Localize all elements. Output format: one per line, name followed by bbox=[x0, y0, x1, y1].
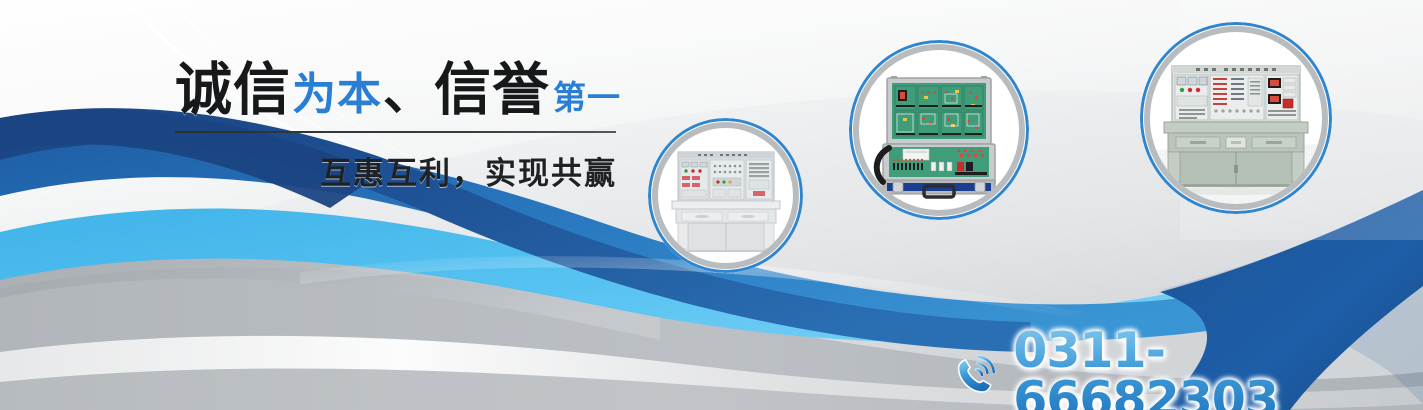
product-image-2 bbox=[859, 50, 1019, 210]
phone-number[interactable]: 0311-66682303 bbox=[1013, 326, 1423, 410]
product-circle-3[interactable] bbox=[1140, 22, 1332, 214]
headline-part-xinyu: 信誉 bbox=[434, 62, 550, 119]
product-circle-2[interactable] bbox=[849, 40, 1029, 220]
product-image-3 bbox=[1150, 32, 1322, 204]
contact-phone-row[interactable]: 0311-66682303 bbox=[952, 326, 1423, 410]
headline: 诚信 为本 、 信誉 第一 bbox=[175, 62, 617, 119]
phone-call-icon bbox=[952, 351, 999, 399]
headline-part-diyi: 第一 bbox=[550, 81, 621, 114]
product-circle-1[interactable] bbox=[648, 118, 803, 273]
slogan-divider bbox=[175, 131, 616, 133]
slogan-block: 诚信 为本 、 信誉 第一 互惠互利，实现共赢 bbox=[175, 62, 617, 193]
headline-part-chengxin: 诚信 bbox=[175, 62, 291, 119]
headline-part-weiben: 为本 bbox=[291, 73, 383, 117]
headline-separator: 、 bbox=[383, 67, 434, 117]
promotional-banner: 诚信 为本 、 信誉 第一 互惠互利，实现共赢 bbox=[0, 0, 1423, 410]
product-image-1 bbox=[658, 128, 793, 263]
slogan-subtitle: 互惠互利，实现共赢 bbox=[175, 148, 617, 193]
